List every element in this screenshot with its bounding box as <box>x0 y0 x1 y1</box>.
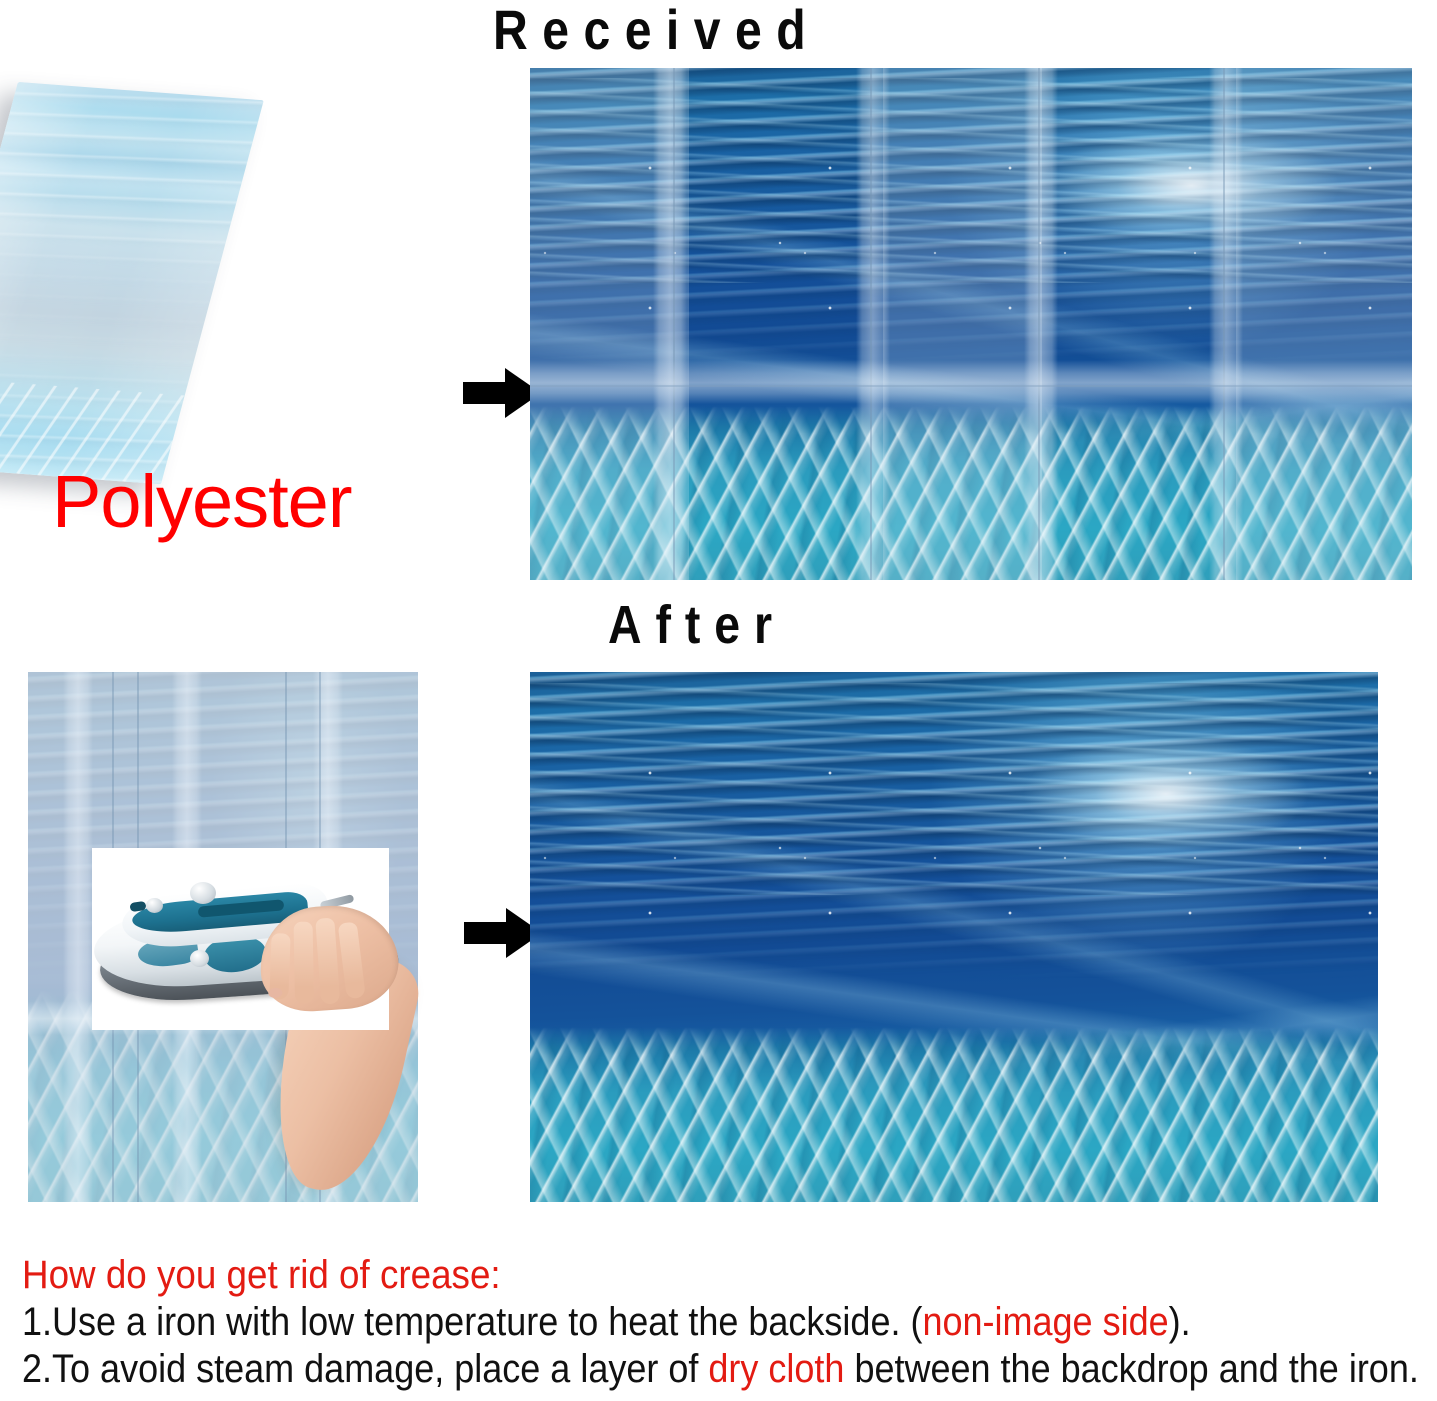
instruction-step-2: 2.To avoid steam damage, place a layer o… <box>22 1347 1282 1392</box>
finger <box>294 922 314 1004</box>
care-instructions: How do you get rid of crease: 1.Use a ir… <box>22 1252 1422 1392</box>
polyester-fabric-swatch <box>0 82 264 484</box>
finger <box>315 918 340 1005</box>
air-bubbles <box>530 78 1412 385</box>
arrow-shaft <box>464 922 510 944</box>
finger <box>338 922 366 1000</box>
step-text-tail: between the backdrop and the iron. <box>844 1347 1418 1391</box>
fabric-sheen <box>0 82 264 484</box>
arrow-shaft <box>463 382 509 404</box>
step-text-plain: To avoid steam damage, place a layer of <box>52 1347 708 1391</box>
iron-temperature-dial <box>190 950 209 967</box>
iron-spray-button <box>146 898 163 913</box>
received-section-title: Received <box>493 1 820 59</box>
step-text-highlight: non-image side <box>922 1300 1168 1344</box>
product-infographic: Received Polyester <box>0 0 1437 1401</box>
polyester-material-label: Polyester <box>52 462 351 542</box>
step-text-tail: ). <box>1169 1300 1191 1344</box>
after-section-title: After <box>608 597 786 653</box>
step-number: 1. <box>22 1300 52 1344</box>
step-number: 2. <box>22 1347 52 1391</box>
instruction-step-1: 1.Use a iron with low temperature to hea… <box>22 1300 1282 1345</box>
steam-iron-photo <box>92 848 389 1030</box>
step-text-highlight: dry cloth <box>708 1347 844 1391</box>
underwater-scene <box>530 68 1412 580</box>
instructions-heading: How do you get rid of crease: <box>22 1252 1310 1298</box>
step-text-plain: Use a iron with low temperature to heat … <box>52 1300 922 1344</box>
after-backdrop-photo <box>530 672 1378 1202</box>
sea-bed-caustics <box>530 1027 1378 1202</box>
iron-steam-knob <box>190 882 216 904</box>
air-bubbles <box>530 683 1378 1001</box>
underwater-scene <box>530 672 1378 1202</box>
sea-bed-caustics <box>530 406 1412 580</box>
received-backdrop-photo <box>530 68 1412 580</box>
